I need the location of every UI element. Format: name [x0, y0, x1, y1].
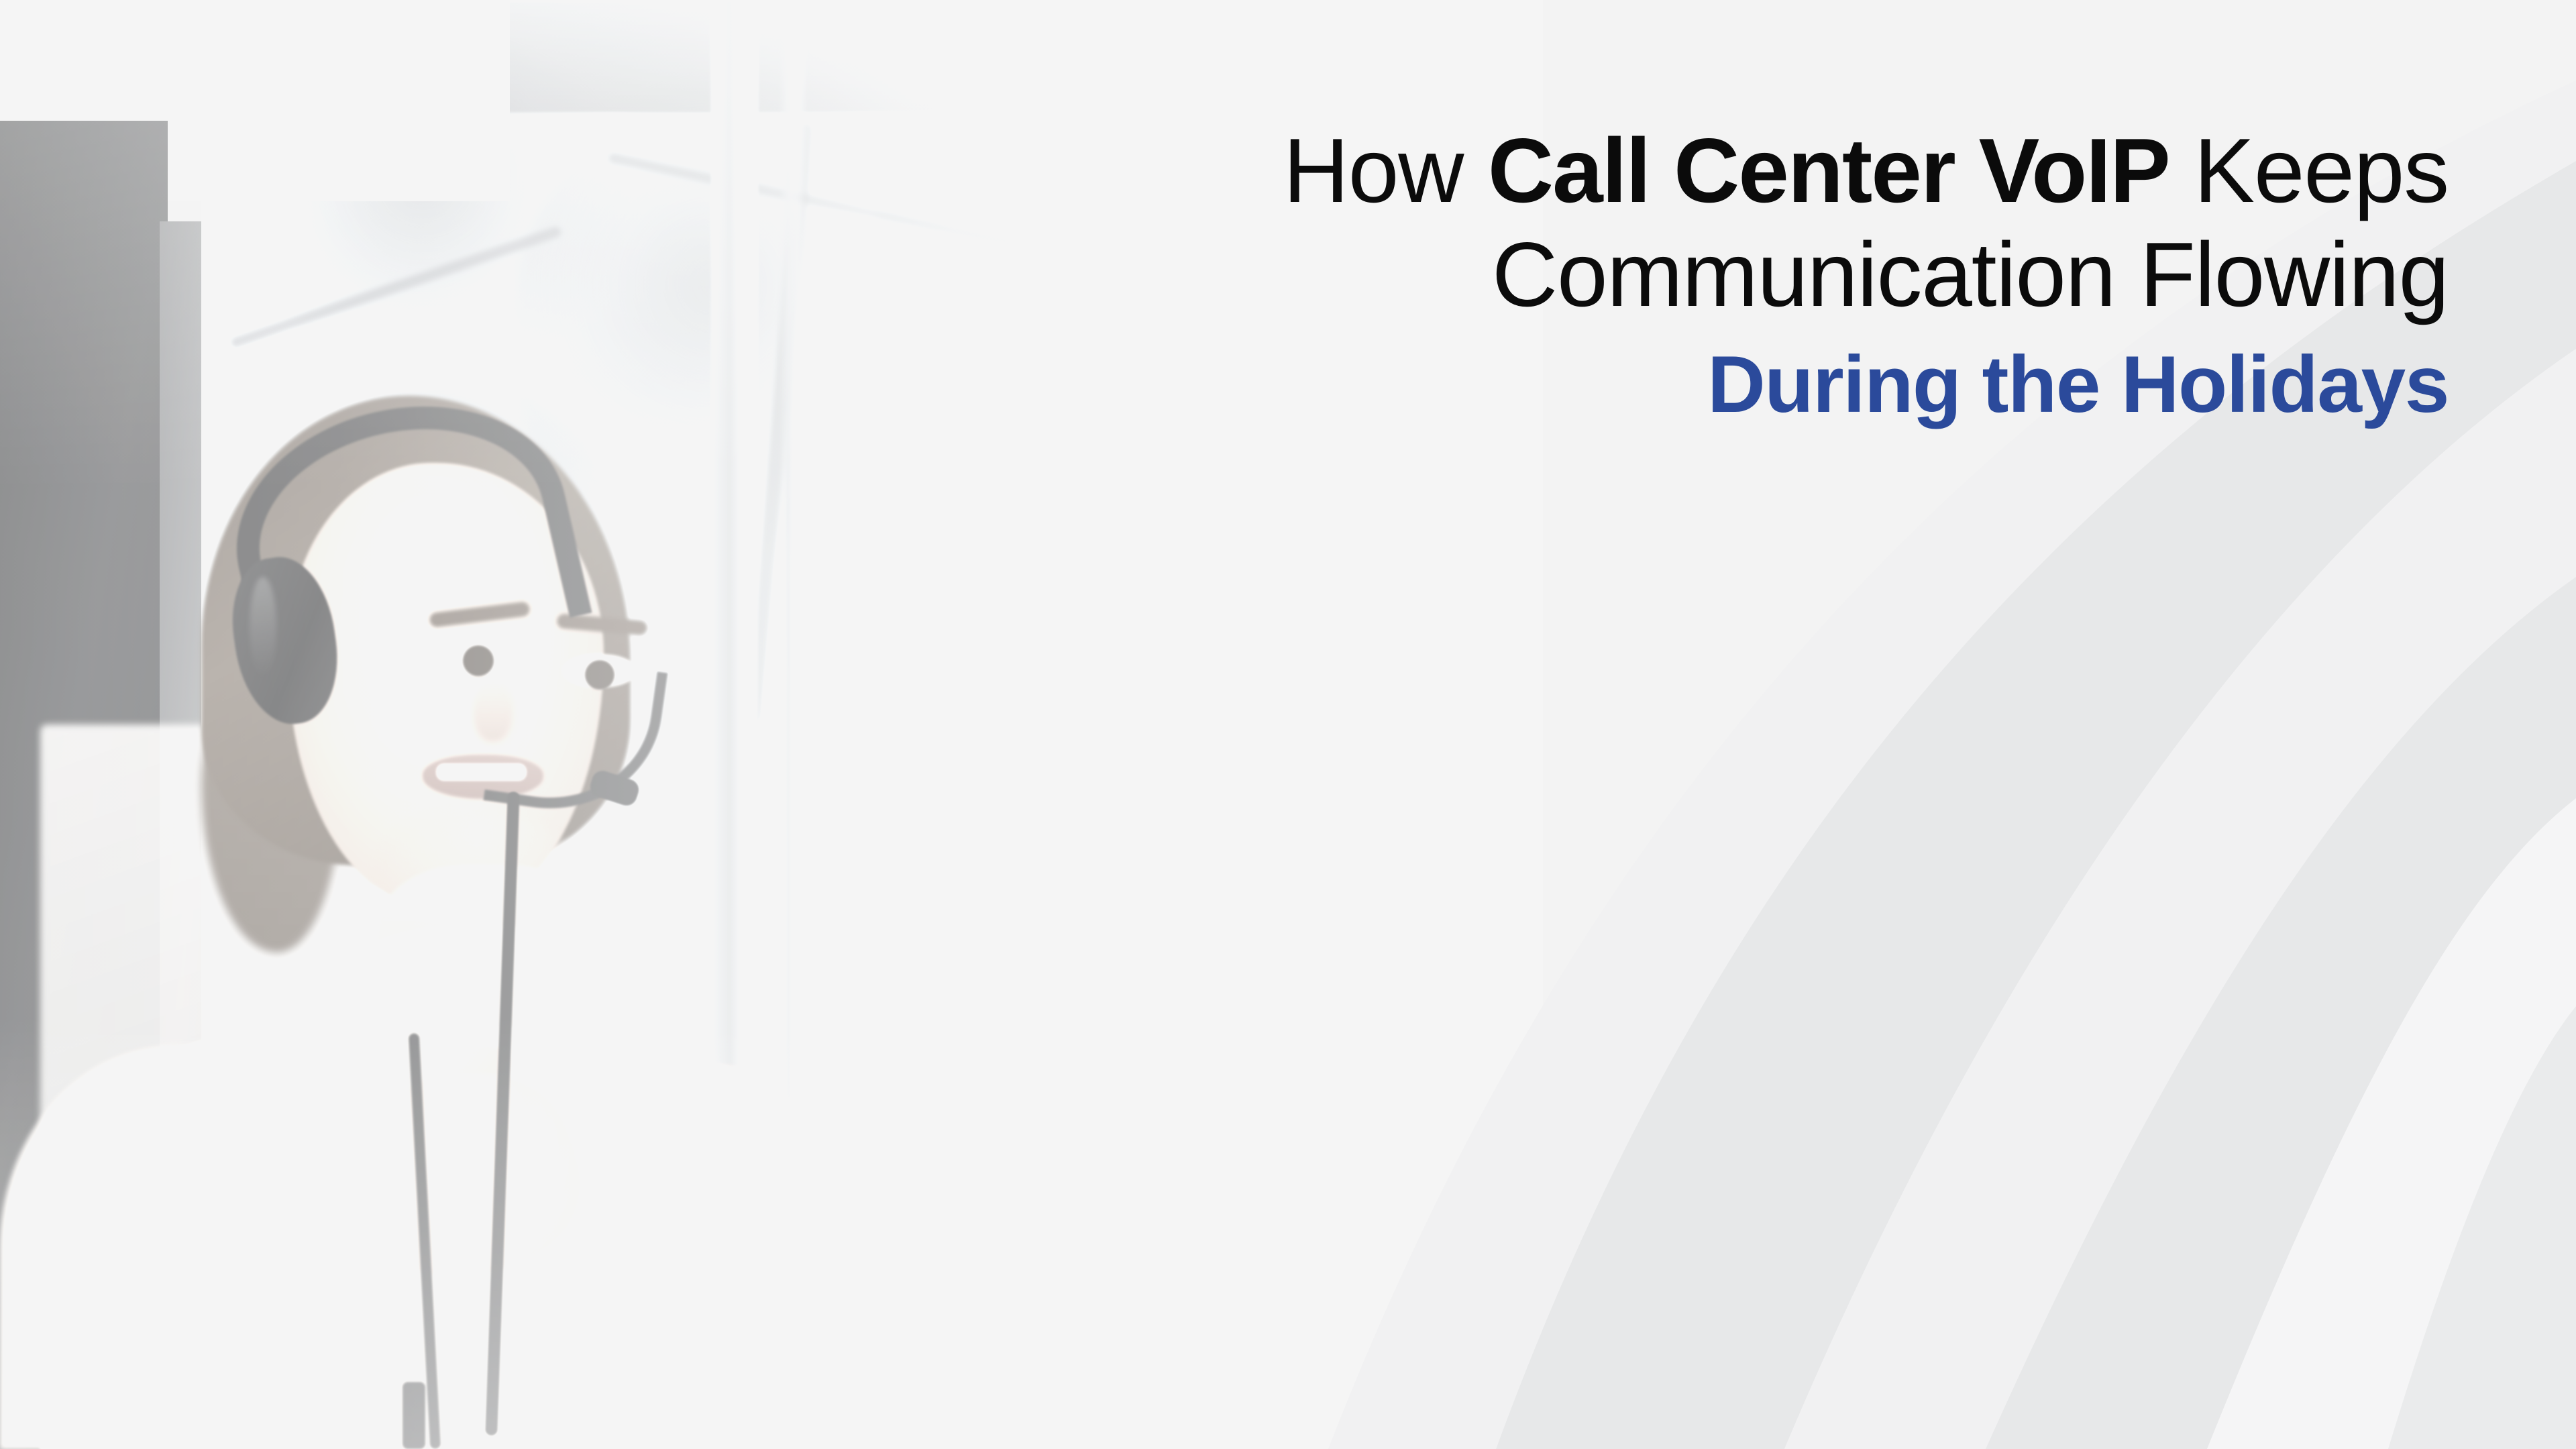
headline-line-3-accent: During the Holidays	[704, 343, 2449, 425]
arc-band-4	[2207, 798, 2576, 1449]
headline-line1-emphasis: Call Center VoIP	[1488, 119, 2169, 221]
blog-hero-banner: How Call Center VoIP Keeps Communication…	[0, 0, 2576, 1449]
headline-line-2: Communication Flowing	[704, 228, 2449, 321]
headline-line1-prefix: How	[1283, 119, 1488, 221]
arc-band-2	[1784, 349, 2576, 1449]
headline: How Call Center VoIP Keeps Communication…	[704, 124, 2449, 426]
arc-band-3	[1986, 577, 2576, 1449]
headline-line-1: How Call Center VoIP Keeps	[704, 124, 2449, 217]
arc-band-5	[2388, 1006, 2576, 1449]
headline-line1-suffix: Keeps	[2169, 119, 2449, 221]
